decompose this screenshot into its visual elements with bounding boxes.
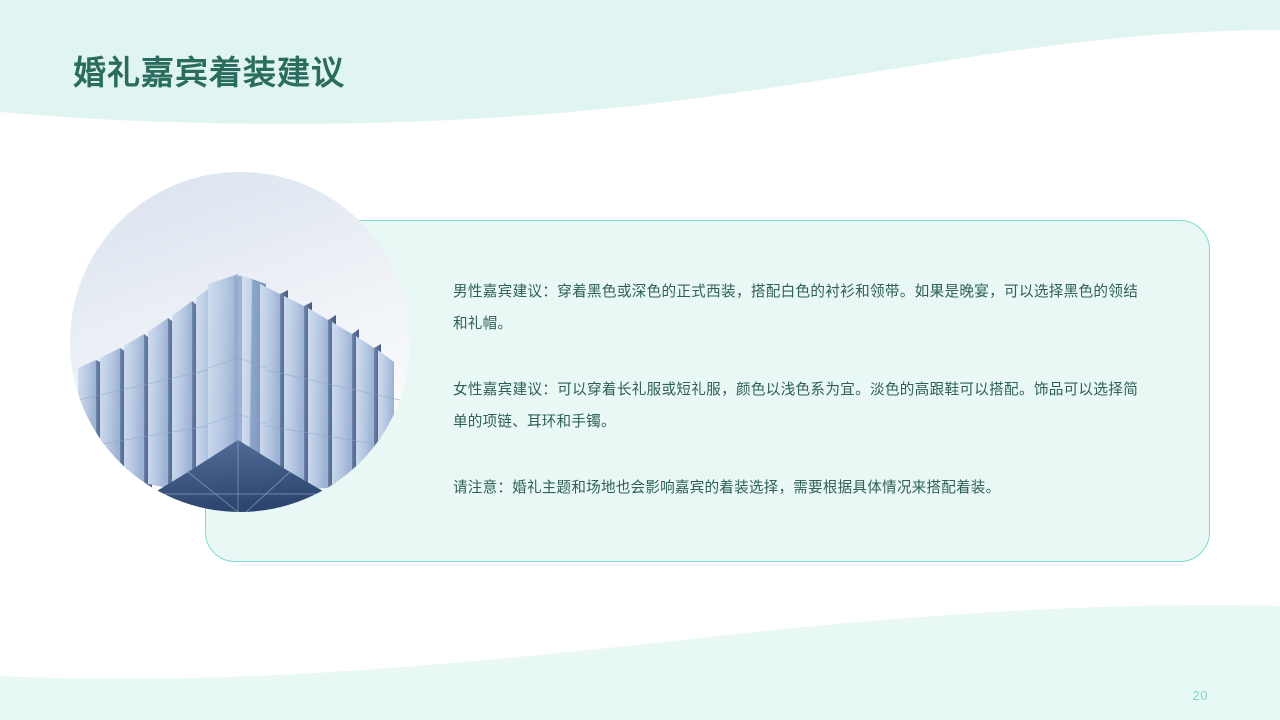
- bottom-wave-shape: [0, 590, 1280, 720]
- paragraph-note: 请注意：婚礼主题和场地也会影响嘉宾的着装选择，需要根据具体情况来搭配着装。: [453, 472, 1138, 504]
- paragraph-womens-advice: 女性嘉宾建议：可以穿着长礼服或短礼服，颜色以浅色系为宜。淡色的高跟鞋可以搭配。饰…: [453, 374, 1138, 438]
- architecture-photo: [70, 172, 410, 512]
- slide-canvas: 婚礼嘉宾着装建议: [0, 0, 1280, 720]
- page-number: 20: [1193, 688, 1208, 703]
- paragraph-mens-advice: 男性嘉宾建议：穿着黑色或深色的正式西装，搭配白色的衬衫和领带。如果是晚宴，可以选…: [453, 276, 1138, 340]
- page-title: 婚礼嘉宾着装建议: [73, 52, 345, 93]
- advice-text-block: 男性嘉宾建议：穿着黑色或深色的正式西装，搭配白色的衬衫和领带。如果是晚宴，可以选…: [453, 276, 1138, 504]
